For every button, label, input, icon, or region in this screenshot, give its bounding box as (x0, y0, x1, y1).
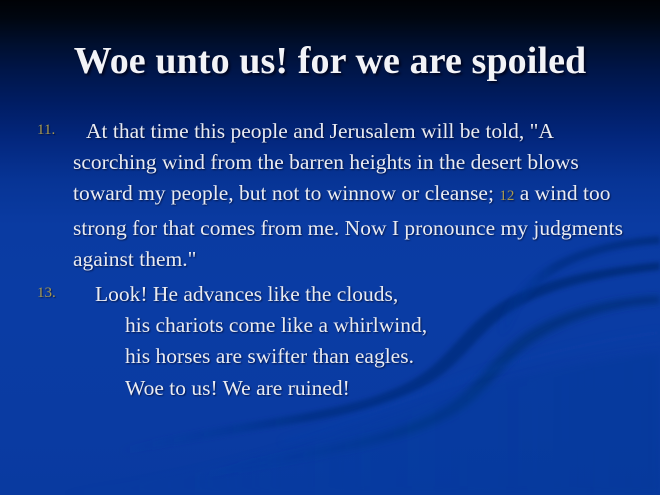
verse-text-11: At that time this people and Jerusalem w… (73, 116, 635, 275)
presentation-slide: Woe unto us! for we are spoiled 11. At t… (0, 0, 660, 495)
poem-line-1: his chariots come like a whirlwind, (73, 310, 635, 341)
poem-line-3: Woe to us! We are ruined! (73, 373, 635, 404)
slide-body: 11. At that time this people and Jerusal… (30, 116, 635, 404)
verse-13-line-text: Look! He advances like the clouds, (95, 282, 398, 306)
verse-block-11: 11. At that time this people and Jerusal… (30, 116, 635, 275)
verse-13-first-line: Look! He advances like the clouds, (73, 279, 635, 310)
poem-line-2: his horses are swifter than eagles. (73, 341, 635, 372)
verse-number-13: 13. (37, 283, 56, 303)
slide-title: Woe unto us! for we are spoiled (0, 38, 660, 84)
inline-verse-number-12: 12 (499, 188, 514, 204)
verse-block-13: 13. Look! He advances like the clouds, h… (30, 279, 635, 404)
verse-number-11: 11. (37, 120, 55, 140)
